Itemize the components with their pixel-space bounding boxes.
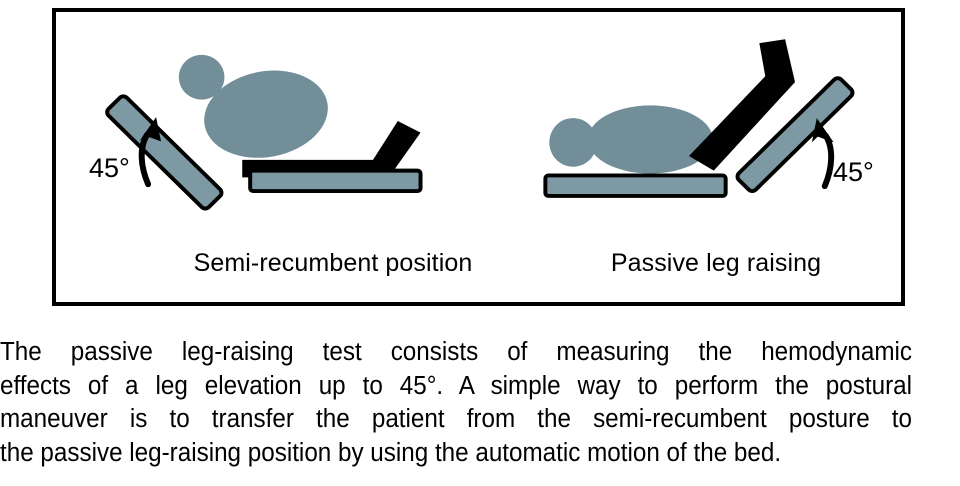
caption-line-2: effects of a leg elevation up to 45°. A … <box>0 370 912 404</box>
panel-label-passive-leg-raising: Passive leg raising <box>556 249 876 278</box>
caption-line-1: The passive leg-raising test consists of… <box>0 336 912 370</box>
angle-label-right: 45° <box>833 157 874 188</box>
bed-flat-section <box>250 171 420 191</box>
caption-line-3: maneuver is to transfer the patient from… <box>0 403 912 437</box>
panel-label-semi-recumbent: Semi-recumbent position <box>168 249 498 278</box>
figure-caption: The passive leg-raising test consists of… <box>0 336 912 470</box>
passive-leg-raising-illustration <box>545 39 854 196</box>
caption-line-4: the passive leg-raising position by usin… <box>0 437 912 471</box>
figure-frame: 45° 45° Semi-recumbent position Passive … <box>52 8 905 306</box>
figure-page: 45° 45° Semi-recumbent position Passive … <box>0 0 960 486</box>
angle-label-left: 45° <box>89 153 130 184</box>
semi-recumbent-illustration <box>105 55 420 211</box>
rotation-arrow-right <box>812 118 834 186</box>
bed-flat-section-2 <box>545 175 725 195</box>
patient-torso-icon-2 <box>588 105 713 173</box>
